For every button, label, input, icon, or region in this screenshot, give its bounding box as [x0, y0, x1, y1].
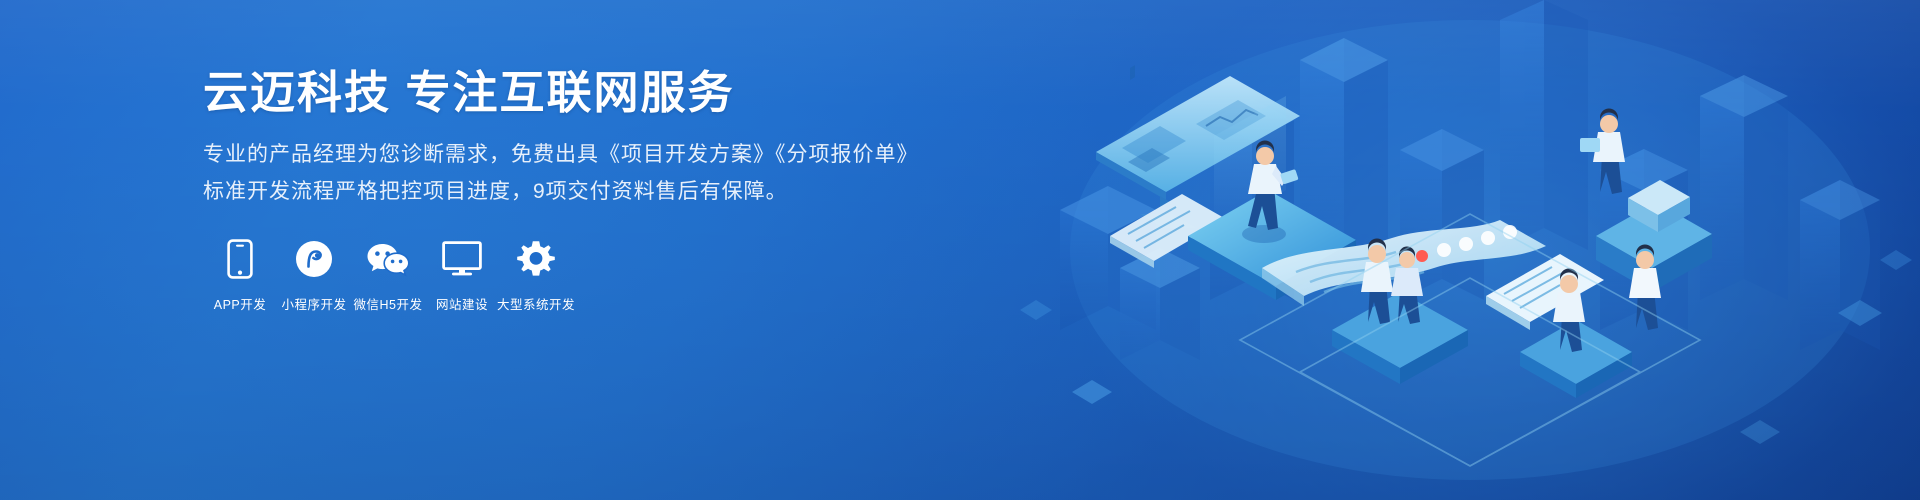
- subtitle-block: 专业的产品经理为您诊断需求，免费出具《项目开发方案》《分项报价单》 标准开发流程…: [203, 137, 903, 211]
- service-list: APP开发 小程序开发: [203, 237, 903, 313]
- mini-program-icon: [295, 237, 333, 281]
- service-label-large-system: 大型系统开发: [497, 294, 575, 313]
- banner-content: 云迈科技 专注互联网服务 专业的产品经理为您诊断需求，免费出具《项目开发方案》《…: [203, 66, 903, 313]
- service-label-app: APP开发: [214, 294, 267, 313]
- wechat-icon: [366, 237, 410, 281]
- isometric-city-illustration: [1000, 0, 1920, 500]
- subtitle-line-2: 标准开发流程严格把控项目进度，9项交付资料售后有保障。: [203, 174, 903, 211]
- service-item-wechat-h5[interactable]: 微信H5开发: [351, 237, 425, 313]
- monitor-icon: [442, 237, 482, 281]
- service-label-website: 网站建设: [436, 294, 488, 313]
- service-label-wechat-h5: 微信H5开发: [354, 294, 423, 313]
- subtitle-line-1: 专业的产品经理为您诊断需求，免费出具《项目开发方案》《分项报价单》: [203, 137, 903, 174]
- mobile-phone-icon: [227, 237, 253, 281]
- service-label-mini-program: 小程序开发: [281, 294, 346, 313]
- service-item-large-system[interactable]: 大型系统开发: [499, 237, 573, 313]
- service-item-mini-program[interactable]: 小程序开发: [277, 237, 351, 313]
- hero-banner: 云迈科技 专注互联网服务 专业的产品经理为您诊断需求，免费出具《项目开发方案》《…: [0, 0, 1920, 500]
- service-item-app[interactable]: APP开发: [203, 237, 277, 313]
- gear-icon: [516, 237, 556, 281]
- service-item-website[interactable]: 网站建设: [425, 237, 499, 313]
- page-title: 云迈科技 专注互联网服务: [203, 66, 903, 119]
